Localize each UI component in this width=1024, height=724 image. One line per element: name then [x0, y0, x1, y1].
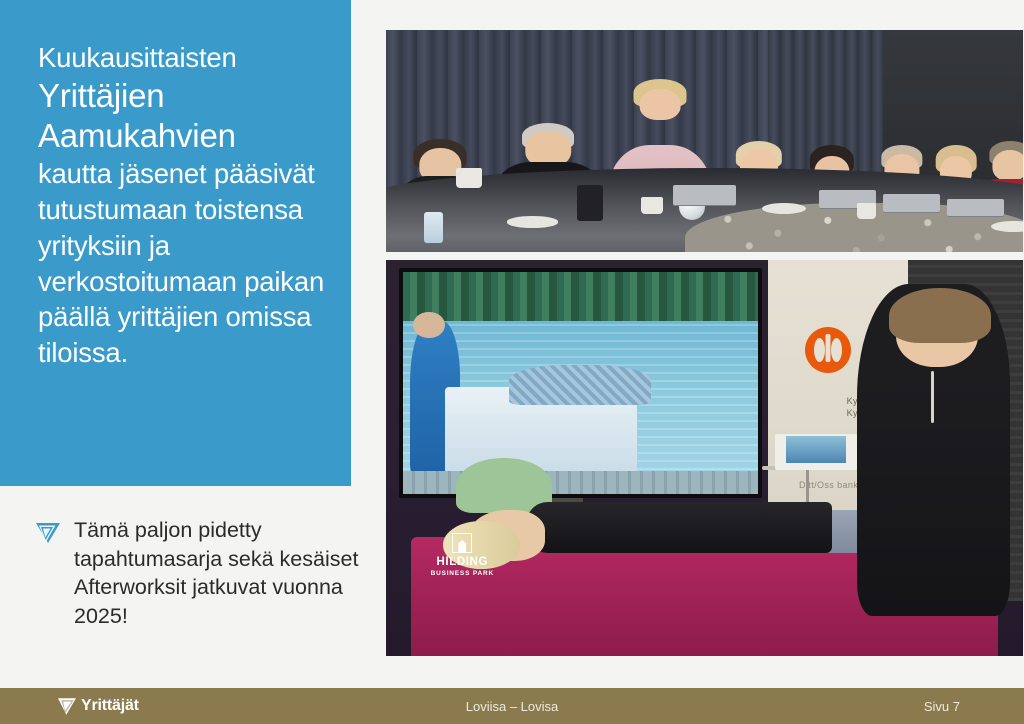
- photo-bottom-scene: Kymi Kymm Ditt/Oss bank HILDING BUSINESS…: [386, 260, 1023, 656]
- footer-location: Loviisa – Lovisa: [0, 699, 1024, 714]
- screen-image-lake-massage: [403, 272, 758, 494]
- coffee-cup: [641, 197, 663, 215]
- screen-blanket: [509, 365, 651, 405]
- client-torso: [526, 502, 832, 553]
- headline-line-3: Aamukahvien: [38, 116, 325, 156]
- sign-title: HILDING: [431, 556, 494, 569]
- photo-massage-demo: Kymi Kymm Ditt/Oss bank HILDING BUSINESS…: [386, 260, 1023, 656]
- presentation-screen: [399, 268, 762, 498]
- building-icon: [452, 533, 472, 553]
- laptop-on-cart: [775, 434, 858, 470]
- water-bottle: [424, 212, 443, 243]
- yrittajat-triangle-icon: [36, 523, 60, 543]
- op-bank-logo-icon: [805, 327, 851, 373]
- head: [640, 89, 681, 120]
- headline-line-1: Kuukausittaisten: [38, 42, 237, 73]
- laptop: [883, 194, 940, 212]
- photo-morning-coffee-meeting: [386, 30, 1023, 252]
- thermos: [577, 185, 602, 221]
- hilding-business-park-sign: HILDING BUSINESS PARK: [431, 533, 494, 577]
- footer-page-number: Sivu 7: [924, 699, 960, 714]
- sign-subtitle: BUSINESS PARK: [431, 570, 494, 577]
- laptop: [673, 185, 737, 205]
- headline-line-2: Yrittäjien: [38, 76, 325, 116]
- coffee-cup: [456, 168, 481, 188]
- coffee-cup: [857, 203, 876, 219]
- therapist-necklace: [931, 371, 934, 423]
- headline-text: Kuukausittaisten Yrittäjien Aamukahvien …: [38, 40, 325, 371]
- therapist-hair: [889, 288, 991, 343]
- op-logo-bar: [825, 334, 830, 363]
- plate: [507, 216, 558, 227]
- photo-top-scene: [386, 30, 1023, 252]
- bullet-item: Tämä paljon pidetty tapahtumasarja sekä …: [36, 516, 366, 630]
- laptop: [947, 199, 1004, 217]
- screen-treeline: [403, 272, 758, 325]
- headline-body: kautta jäsenet pääsivät tutustumaan tois…: [38, 158, 324, 368]
- headline-panel: Kuukausittaisten Yrittäjien Aamukahvien …: [0, 0, 351, 486]
- bullet-label: Tämä paljon pidetty tapahtumasarja sekä …: [74, 516, 366, 630]
- head: [993, 150, 1023, 181]
- slide-footer: Yrittäjät Loviisa – Lovisa Sivu 7: [0, 688, 1024, 724]
